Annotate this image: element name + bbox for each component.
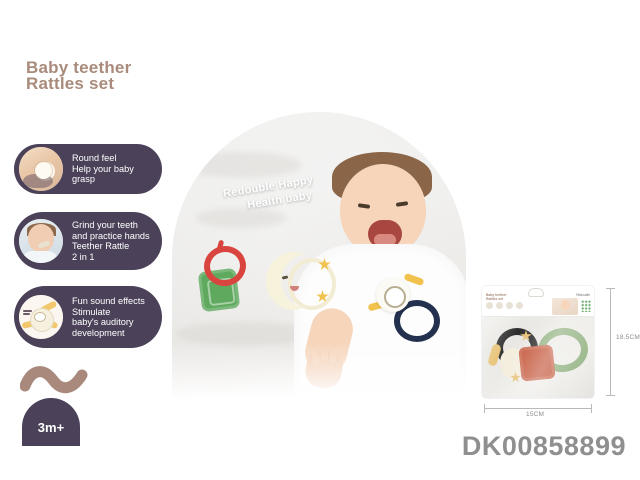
feature-thumbnail-baby-icon — [17, 217, 65, 265]
feature-thumbnail-hands-icon — [17, 145, 65, 193]
pkg-dot-pattern — [581, 300, 591, 312]
dimension-label-height: 18.5CM — [616, 334, 640, 341]
sku-code: DK00858899 — [462, 431, 626, 462]
hero-bottom-fade — [172, 342, 466, 412]
packaging-bag: Baby teether Rattles set Redouble — [482, 286, 594, 398]
pkg-feature-icons — [486, 302, 523, 309]
hang-hole-icon — [528, 288, 544, 297]
dimension-line-vertical — [610, 288, 611, 396]
feature-line: Grind your teeth — [72, 220, 150, 231]
toy-navy-ring-rattle — [368, 274, 428, 334]
feature-line: 2 in 1 — [72, 252, 150, 263]
feature-text: Grind your teeth and practice hands Teet… — [65, 220, 158, 262]
packaging-header-card: Baby teether Rattles set Redouble — [482, 286, 594, 317]
feature-line: Teether Rattle — [72, 241, 150, 252]
feature-text: Round feel Help your baby grasp — [65, 153, 142, 185]
feature-line: baby's auditory — [72, 317, 145, 328]
dimension-line-horizontal — [484, 408, 592, 409]
dimension-label-width: 15CM — [526, 411, 544, 418]
page-title: Baby teether Rattles set — [26, 60, 246, 92]
feature-pill-sound-effects: Fun sound effects Stimulate baby's audit… — [14, 286, 162, 348]
pkg-baby-photo — [552, 298, 578, 315]
feature-line: and practice hands — [72, 231, 150, 242]
pkg-title: Baby teether Rattles set — [486, 293, 507, 301]
feature-line: Help your baby — [72, 164, 134, 175]
feature-pill-grind-teeth: Grind your teeth and practice hands Teet… — [14, 212, 162, 270]
feature-line: Fun sound effects — [72, 296, 145, 307]
feature-pill-round-feel: Round feel Help your baby grasp — [14, 144, 162, 194]
feature-line: Stimulate — [72, 307, 145, 318]
squiggle-decoration-icon — [20, 366, 92, 396]
feature-line: Round feel — [72, 153, 134, 164]
packaging-photo: Baby teether Rattles set Redouble 18.5CM… — [482, 286, 594, 398]
feature-line: development — [72, 328, 145, 339]
age-badge: 3m+ — [22, 398, 80, 446]
age-badge-label: 3m+ — [38, 420, 64, 435]
product-listing-page: Baby teether Rattles set Round feel Help… — [0, 0, 640, 480]
feature-text: Fun sound effects Stimulate baby's audit… — [65, 296, 153, 338]
feature-line: grasp — [72, 174, 134, 185]
hero-product-photo: Redouble Happy Health baby — [172, 112, 466, 412]
feature-thumbnail-rattle-icon — [17, 293, 65, 341]
pkg-brand-label: Redouble — [576, 293, 590, 297]
title-line-2: Rattles set — [26, 76, 246, 92]
toy-moon-star-rattle — [266, 252, 320, 310]
